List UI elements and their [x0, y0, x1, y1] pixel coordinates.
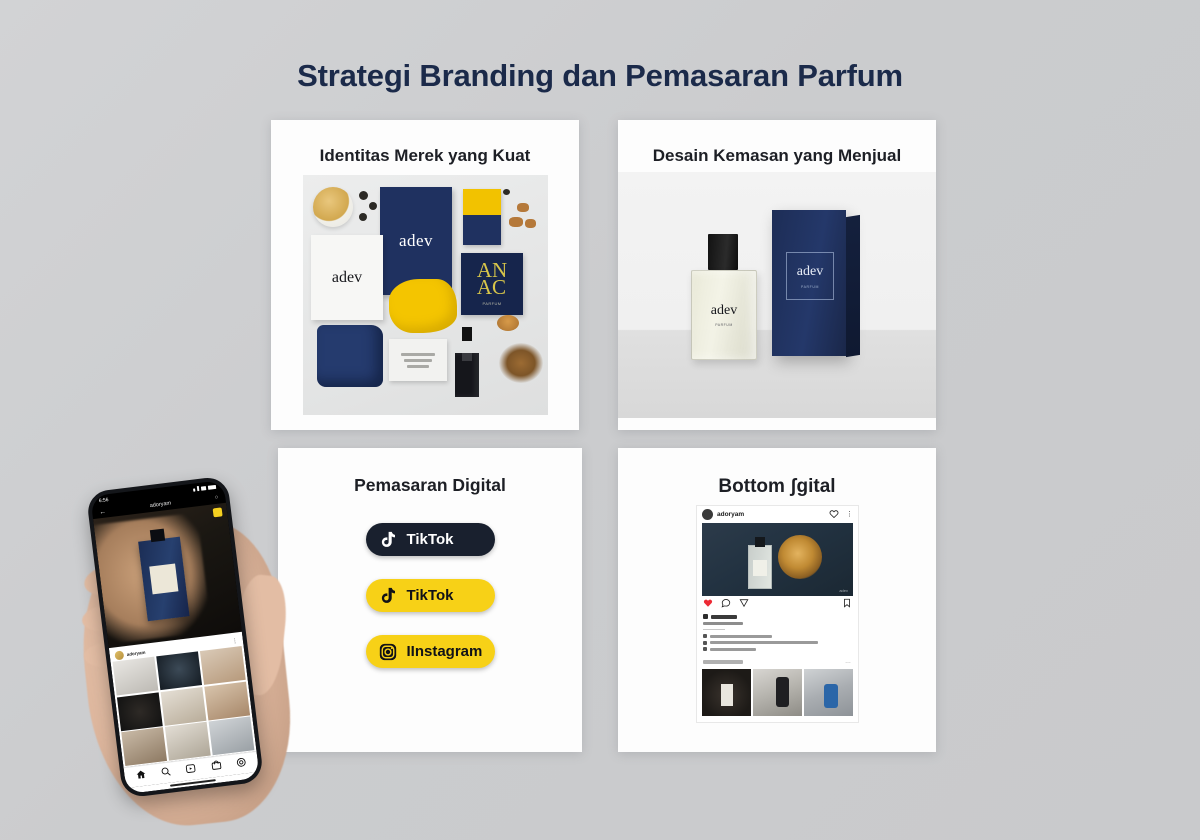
caption-text-bar: [710, 635, 772, 638]
caption-bullet-line: [703, 647, 852, 651]
post-header: adoryam ⋮: [697, 506, 858, 523]
card-identitas-merek[interactable]: Identitas Merek yang Kuat adev adev ANAC…: [271, 120, 579, 430]
instagram-icon: [378, 642, 398, 662]
status-icons: [193, 484, 216, 492]
post-actions: [697, 596, 858, 612]
post-thumbnail-strip: [697, 669, 858, 721]
color-swatch-pair: [463, 189, 501, 245]
heart-icon[interactable]: [829, 506, 839, 524]
comment-input-placeholder[interactable]: [703, 660, 743, 664]
spice-bowl-icon: [313, 187, 353, 227]
status-time: 6:56: [98, 497, 108, 504]
bullet-icon: [703, 647, 707, 651]
yellow-fabric-swatch: [389, 279, 457, 333]
caption-divider: [703, 629, 725, 630]
brand-logo-text: adev: [332, 269, 362, 287]
profile-grid-panel: adoryam ⋮: [109, 632, 257, 767]
tiktok-icon: [378, 586, 398, 606]
packaging-image: adev PARFUM adev PARFUM: [618, 172, 936, 418]
card-title-pemasaran-digital: Pemasaran Digital: [278, 475, 582, 496]
tiktok-button-dark[interactable]: TikTok: [366, 523, 495, 556]
bottle-body: [455, 353, 479, 397]
page-title: Strategi Branding dan Pemasaran Parfum: [0, 58, 1200, 94]
grid-item[interactable]: [200, 646, 246, 685]
caption-brand-text: [711, 615, 737, 619]
app-title: adoryam: [149, 501, 171, 510]
tiktok-icon: [378, 530, 398, 550]
box-logo-subtext: PARFUM: [801, 285, 819, 289]
caption-brand-line: [703, 614, 852, 619]
post-caption: [697, 612, 858, 651]
brand-logo-text: adev: [711, 303, 737, 319]
card-pemasaran-digital[interactable]: Pemasaran Digital TikTok TikTok: [278, 448, 582, 752]
social-button-stack: TikTok TikTok IInstagram: [278, 523, 582, 691]
wifi-icon: [201, 486, 206, 491]
brand-logo-text: adev: [797, 264, 823, 280]
swatch-yellow: [463, 189, 501, 215]
perfume-bottle-icon: [455, 327, 479, 385]
bottle-cap: [150, 529, 165, 543]
home-icon[interactable]: [135, 767, 148, 786]
media-grid: [111, 646, 257, 767]
grid-item[interactable]: [156, 651, 202, 690]
label-line: [401, 353, 435, 356]
avatar: [702, 509, 713, 520]
search-icon[interactable]: [160, 763, 173, 782]
thumbnail-perfume-flatlay[interactable]: [702, 669, 751, 716]
perfume-bottle-icon: [748, 545, 772, 589]
card-title-identitas-merek: Identitas Merek yang Kuat: [271, 146, 579, 166]
typography-caption: PARFUM: [483, 301, 502, 306]
seed-icon: [359, 191, 368, 200]
caption-bullet-line: [703, 641, 852, 645]
spice-scoop-icon: [497, 315, 519, 331]
photo-watermark: adev: [839, 588, 848, 593]
promo-badge[interactable]: [213, 507, 223, 517]
bottle-cap: [708, 234, 738, 270]
card-bottom-sgital[interactable]: Bottom ʃgital adoryam ⋮ adev: [618, 448, 936, 752]
bottle-subtext: PARFUM: [715, 323, 733, 327]
grid-item[interactable]: [160, 687, 206, 726]
instagram-post-mockup[interactable]: adoryam ⋮ adev: [696, 505, 859, 723]
battery-icon: [208, 485, 216, 490]
brand-logo-text: adev: [399, 231, 433, 251]
grid-item[interactable]: [121, 727, 167, 766]
seed-icon: [369, 202, 377, 210]
tiktok-button-label: TikTok: [407, 587, 454, 604]
signal-icon: [193, 488, 195, 491]
notifications-icon[interactable]: ○: [214, 495, 218, 501]
spice-icon: [517, 203, 529, 212]
profile-icon[interactable]: [235, 754, 248, 773]
brand-moodboard-image: adev adev ANAC PARFUM: [303, 175, 548, 415]
box-side-panel: [846, 215, 860, 357]
comment-row[interactable]: …: [697, 654, 858, 669]
comment-more-icon[interactable]: …: [845, 659, 852, 665]
spice-icon: [525, 219, 536, 228]
caption-text-bar: [710, 641, 818, 644]
phone-mockup: 6:56 ← adoryam ○: [86, 455, 296, 840]
more-options-icon[interactable]: ⋮: [846, 512, 853, 517]
seed-icon: [503, 189, 510, 195]
white-brand-card: adev: [311, 235, 383, 320]
box-logo-frame: adev PARFUM: [786, 252, 834, 300]
signal-icon: [197, 486, 200, 491]
typography-card: ANAC PARFUM: [461, 253, 523, 315]
bottle-label: [462, 353, 472, 361]
label-line: [404, 359, 432, 362]
bottle-label: [149, 563, 178, 594]
grid-item[interactable]: [204, 681, 250, 720]
post-username: adoryam: [717, 511, 825, 518]
golden-bloom-icon: [778, 535, 822, 579]
bullet-icon: [703, 634, 707, 638]
comment-icon[interactable]: [721, 595, 731, 613]
tiktok-button-label: TikTok: [407, 531, 454, 548]
thumbnail-person-with-flowers[interactable]: [753, 669, 802, 716]
caption-subtext: [703, 622, 743, 625]
grid-item[interactable]: [165, 722, 211, 761]
spice-pile-icon: [499, 343, 543, 383]
video-preview[interactable]: [93, 503, 242, 648]
avatar: [114, 650, 124, 660]
bookmark-icon[interactable]: [842, 595, 852, 613]
grid-item[interactable]: [113, 657, 159, 696]
tiktok-button-yellow[interactable]: TikTok: [366, 579, 495, 612]
share-icon[interactable]: [739, 595, 749, 613]
bottle-cap: [755, 537, 765, 547]
shop-icon[interactable]: [210, 757, 223, 776]
like-icon[interactable]: [703, 595, 713, 613]
instagram-button[interactable]: IInstagram: [366, 635, 495, 668]
reels-icon[interactable]: [185, 760, 198, 779]
label-card: [389, 339, 447, 381]
typography-initials: ANAC: [477, 262, 507, 296]
card-title-bottom-sgital: Bottom ʃgital: [618, 476, 936, 498]
caption-bullet-line: [703, 634, 852, 638]
bottle-label: [753, 560, 767, 576]
instagram-button-label: IInstagram: [407, 643, 483, 660]
brand-mark-icon: [703, 614, 708, 619]
thumbnail-person-in-store[interactable]: [804, 669, 853, 716]
perfume-box: adev PARFUM: [772, 210, 846, 356]
back-arrow-icon[interactable]: ←: [99, 508, 107, 516]
card-desain-kemasan[interactable]: Desain Kemasan yang Menjual adev PARFUM …: [618, 120, 936, 430]
swatch-navy: [463, 215, 501, 245]
seed-icon: [359, 213, 367, 221]
card-title-desain-kemasan: Desain Kemasan yang Menjual: [618, 146, 936, 166]
navy-fabric-swatch: [317, 325, 383, 387]
more-options-icon[interactable]: ⋮: [231, 637, 238, 645]
post-photo: adev: [702, 523, 853, 596]
caption-text-bar: [710, 648, 756, 651]
perfume-bottle: adev PARFUM: [691, 234, 755, 358]
bullet-icon: [703, 641, 707, 645]
grid-item[interactable]: [208, 716, 254, 755]
grid-item[interactable]: [117, 692, 163, 731]
bottle-glass: adev PARFUM: [691, 270, 757, 360]
spice-icon: [509, 217, 523, 227]
bottle-cap: [462, 327, 472, 341]
label-line: [407, 365, 429, 368]
